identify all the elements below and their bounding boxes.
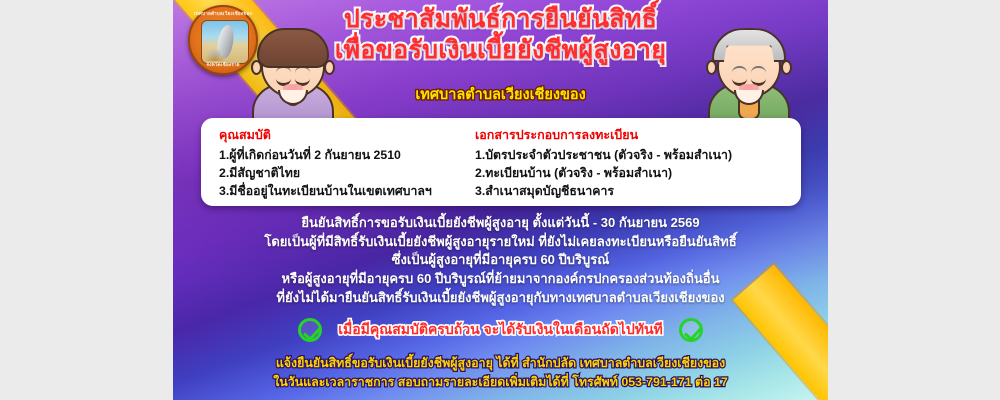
headline-line-1: ประชาสัมพันธ์การยืนยันสิทธิ์ <box>173 4 828 35</box>
announcement-paragraph: ยืนยันสิทธิ์การขอรับเงินเบี้ยยังชีพผู้สู… <box>173 214 828 308</box>
announcement-banner: เทศบาลตำบลเวียงเชียงของ จังหวัดเชียงราย <box>173 0 828 400</box>
qualification-heading: คุณสมบัติ <box>219 125 473 145</box>
paragraph-line: ที่ยังไม่ได้มายืนยันสิทธิ์รับเงินเบี้ยยั… <box>173 289 828 308</box>
headline: ประชาสัมพันธ์การยืนยันสิทธิ์ เพื่อขอรับเ… <box>173 4 828 65</box>
qualification-item: 3.มีชื่ออยู่ในทะเบียนบ้านในเขตเทศบาลฯ <box>219 183 473 201</box>
organization-subtitle: เทศบาลตำบลเวียงเชียงของ <box>173 83 828 106</box>
qualification-column: คุณสมบัติ 1.ผู้ที่เกิดก่อนวันที่ 2 กันยา… <box>201 125 473 206</box>
man-eyebrow-left <box>751 66 766 73</box>
document-item: 2.ทะเบียนบ้าน (ตัวจริง - พร้อมสำเนา) <box>475 165 801 183</box>
footer-line: แจ้งยืนยันสิทธิ์ขอรับเงินเบี้ยยังชีพผู้ส… <box>173 354 828 373</box>
document-item: 3.สำเนาสมุดบัญชีธนาคาร <box>475 183 801 201</box>
info-panel: คุณสมบัติ 1.ผู้ที่เกิดก่อนวันที่ 2 กันยา… <box>201 118 801 206</box>
headline-line-2: เพื่อขอรับเงินเบี้ยยังชีพผู้สูงอายุ <box>173 35 828 66</box>
footer-line: ในวันและเวลาราชการ สอบถามรายละเอียดเพิ่ม… <box>173 373 828 392</box>
screenshot-stage: เทศบาลตำบลเวียงเชียงของ จังหวัดเชียงราย <box>0 0 1000 400</box>
document-item: 1.บัตรประจำตัวประชาชน (ตัวจริง - พร้อมสำ… <box>475 147 801 165</box>
paragraph-line: ยืนยันสิทธิ์การขอรับเงินเบี้ยยังชีพผู้สู… <box>173 214 828 233</box>
paragraph-line: โดยเป็นผู้ที่มีสิทธิ์รับเงินเบี้ยยังชีพผ… <box>173 233 828 252</box>
qualification-item: 1.ผู้ที่เกิดก่อนวันที่ 2 กันยายน 2510 <box>219 147 473 165</box>
paragraph-line: หรือผู้สูงอายุที่มีอายุครบ 60 ปีบริบูรณ์… <box>173 270 828 289</box>
highlight-row: เมื่อมีคุณสมบัติครบถ้วน จะได้รับเงินในเด… <box>173 318 828 342</box>
qualification-item: 2.มีสัญชาติไทย <box>219 165 473 183</box>
footer-contact: แจ้งยืนยันสิทธิ์ขอรับเงินเบี้ยยังชีพผู้ส… <box>173 354 828 392</box>
check-circle-icon <box>298 318 322 342</box>
man-eyebrow-right <box>732 66 747 73</box>
check-circle-icon <box>679 318 703 342</box>
documents-heading: เอกสารประกอบการลงทะเบียน <box>475 125 801 145</box>
paragraph-line: ซึ่งเป็นผู้สูงอายุที่มีอายุครบ 60 ปีบริบ… <box>173 251 828 270</box>
documents-column: เอกสารประกอบการลงทะเบียน 1.บัตรประจำตัวป… <box>473 125 801 206</box>
highlight-text: เมื่อมีคุณสมบัติครบถ้วน จะได้รับเงินในเด… <box>338 319 663 341</box>
